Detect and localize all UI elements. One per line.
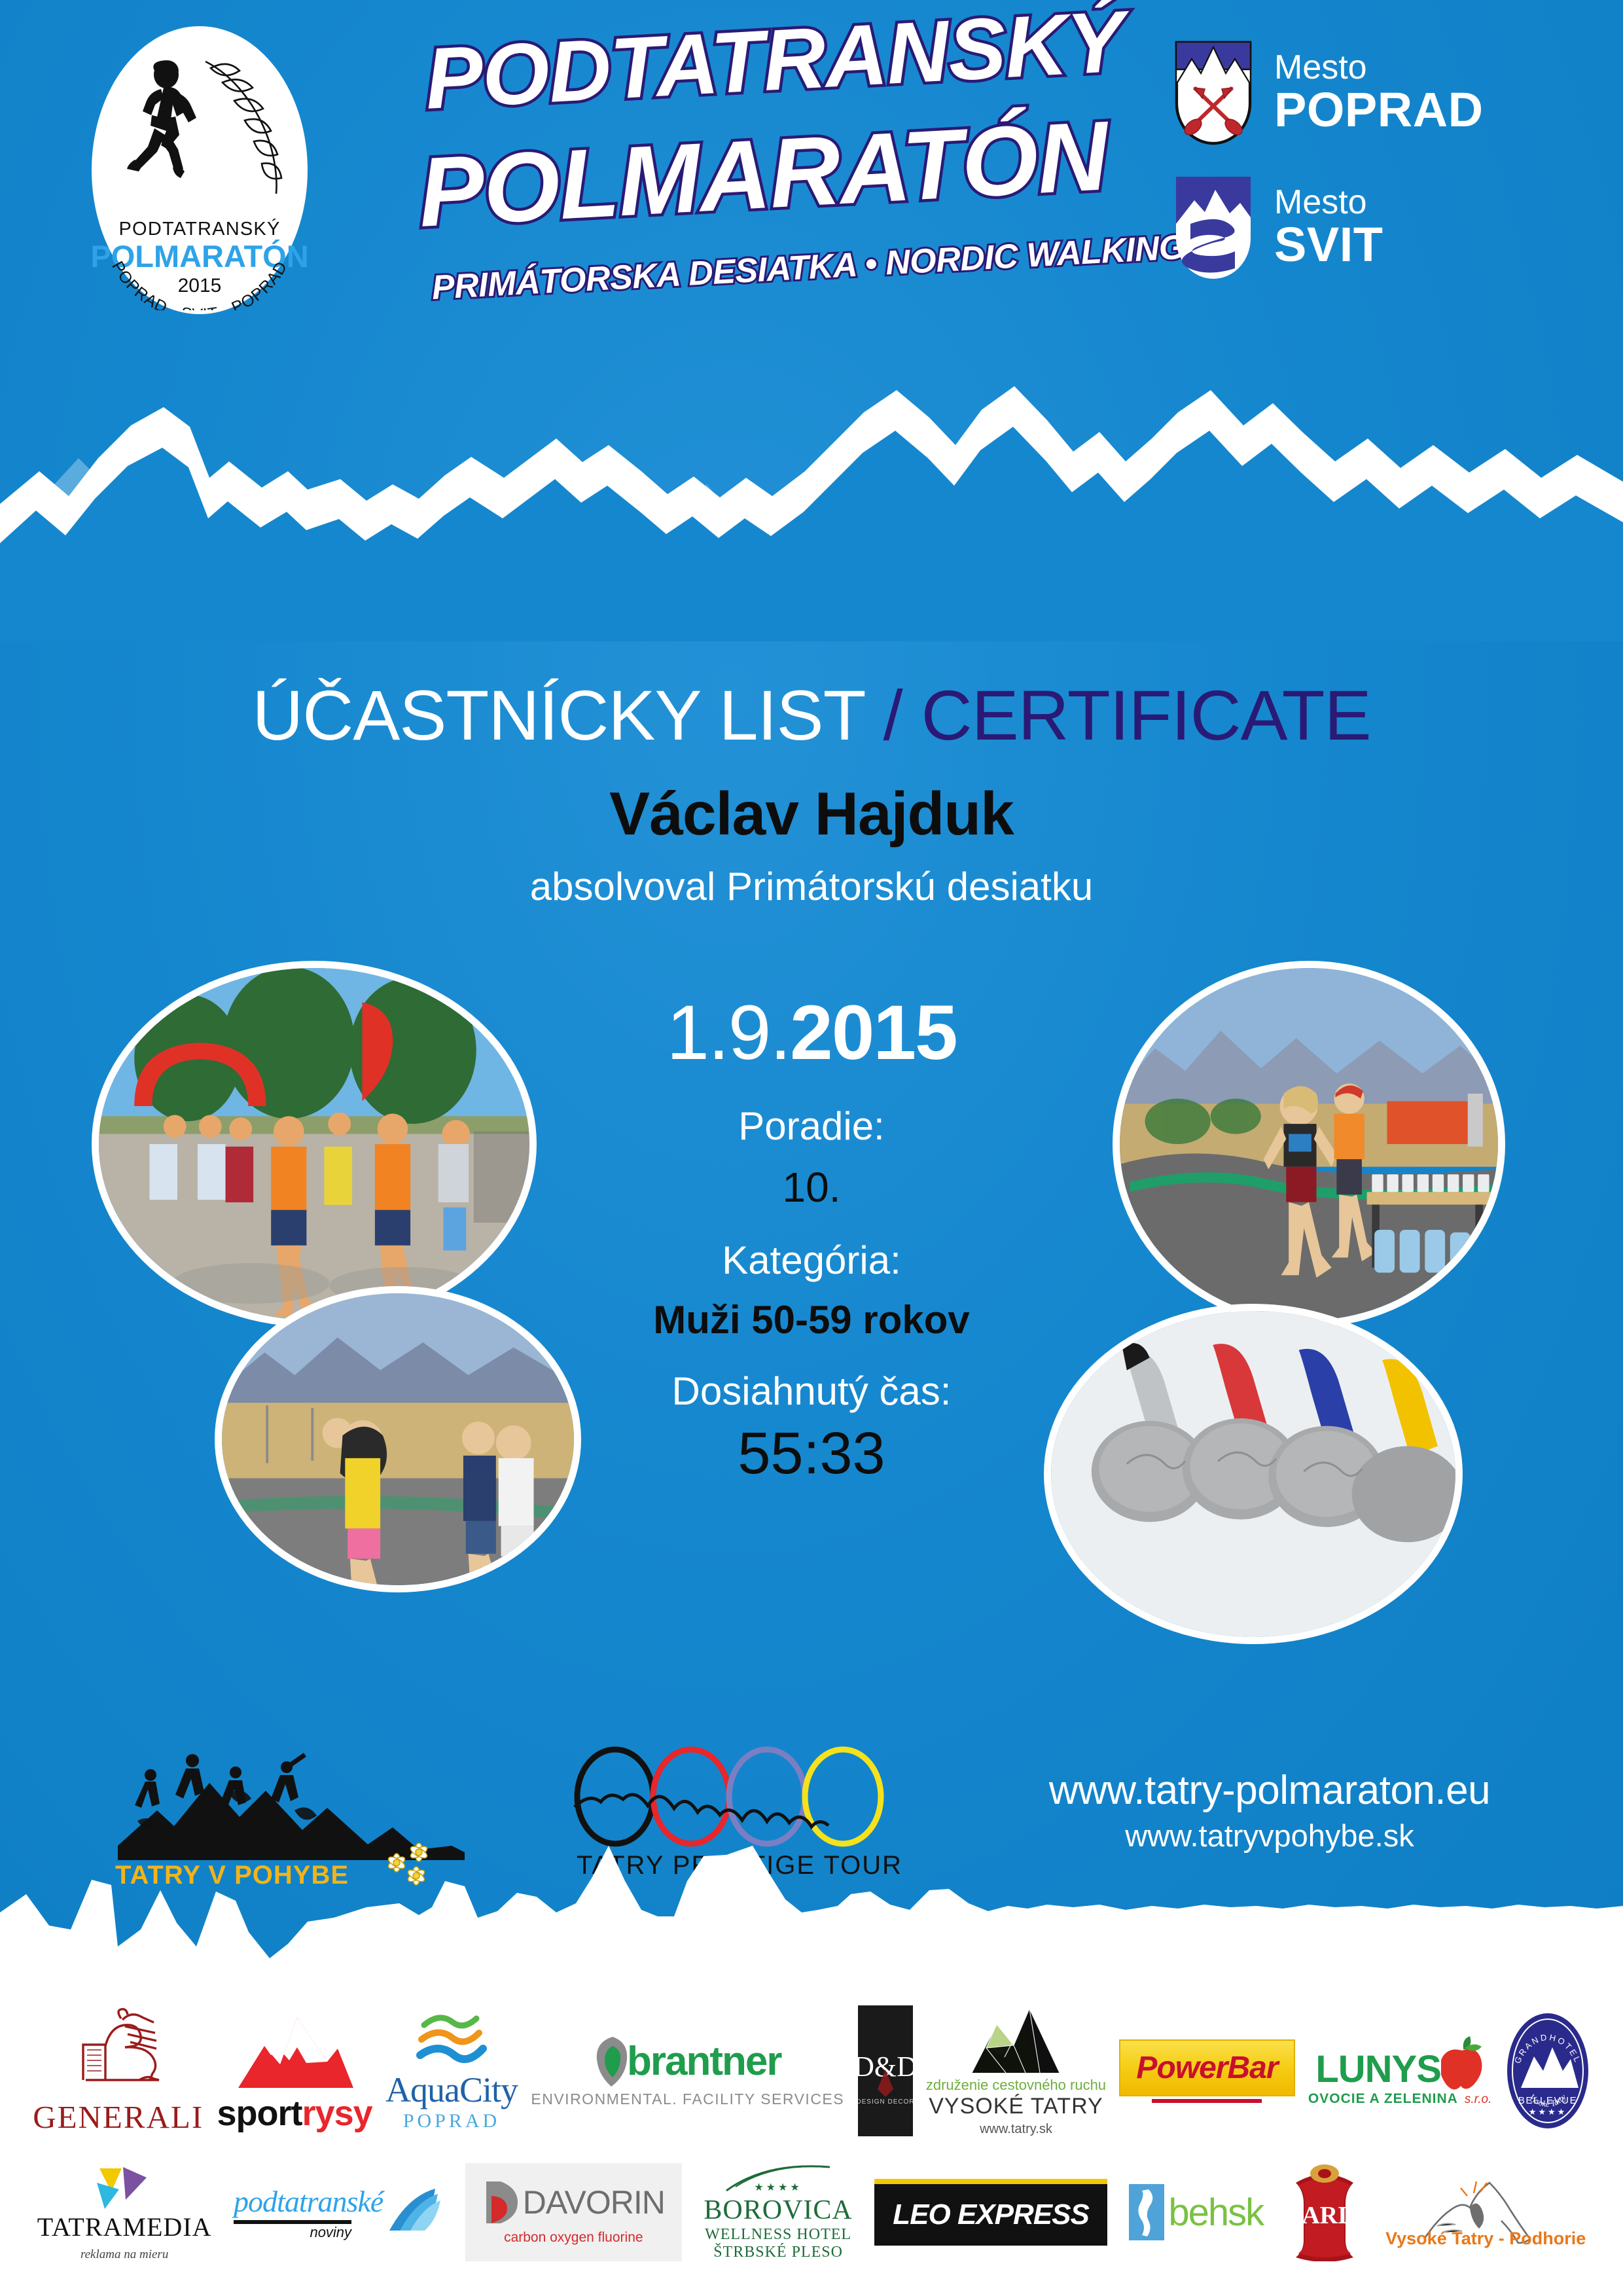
sponsor-tatramedia-label: TATRAMEDIA: [37, 2212, 212, 2242]
time-value: 55:33: [484, 1420, 1139, 1488]
podtatranske-pages-icon: [383, 2185, 443, 2240]
svg-text:ŠARIŠ: ŠARIŠ: [1288, 2201, 1361, 2229]
race-date-day-month: 1.9.: [666, 990, 790, 1076]
city-label-small: Mesto: [1274, 50, 1484, 84]
sponsor-aquacity: AquaCity POPRAD: [385, 2009, 518, 2132]
sponsor-lunys: LUNYS OVOCIE A ZELENINA s.r.o.: [1308, 2035, 1492, 2107]
sponsor-behsk-label: behsk: [1168, 2191, 1263, 2234]
poprad-crest-icon: [1175, 41, 1252, 145]
certificate-heading-en: CERTIFICATE: [921, 675, 1371, 755]
website-primary[interactable]: www.tatry-polmaraton.eu: [975, 1767, 1564, 1814]
powerbar-underline: [1152, 2099, 1262, 2103]
sponsor-vt-label: VYSOKÉ TATRY: [929, 2094, 1103, 2119]
event-title-block: PODTATRANSKÝ POLMARATÓN PRIMÁTORSKA DESI…: [419, 38, 1145, 346]
sponsor-borovica: ★★★★ BOROVICA WELLNESS HOTEL ŠTRBSKÉ PLE…: [704, 2163, 852, 2261]
photo-road-runner: [1113, 961, 1505, 1327]
sponsor-tatramedia: TATRAMEDIA reklama na mieru: [37, 2163, 212, 2262]
sportrysy-mountain-icon: [229, 2008, 360, 2093]
event-badge-logo: PODTATRANSKÝ POLMARATÓN 2015 POPRAD - SV…: [92, 26, 308, 314]
behsk-runner-icon: [1129, 2184, 1164, 2240]
laurel-wreath-icon: [202, 58, 288, 198]
sponsor-vt-sub: združenie cestovného ruchu: [926, 2077, 1106, 2094]
title-line-2: POLMARATÓN: [416, 109, 1110, 239]
sponsor-row-1: GENERALI sportrysy AquaCity POPRAD: [26, 1983, 1597, 2147]
city-partner-logos: Mesto POPRAD Mesto SVIT: [1175, 41, 1541, 310]
sponsor-borovica-sub2: ŠTRBSKÉ PLESO: [713, 2244, 843, 2261]
sponsor-borovica-label: BOROVICA: [704, 2195, 852, 2226]
race-date-year: 2015: [790, 990, 957, 1076]
sponsor-vt-url: www.tatry.sk: [980, 2122, 1052, 2137]
bottom-mountain-edge: [0, 1808, 1623, 1977]
runner-name: Václav Hajduk: [0, 779, 1623, 849]
grandhotel-bellevue-icon: GRANDHOTEL BELLEVUE ★★★★ Vysoké Tatry: [1505, 2012, 1590, 2130]
badge-arc-text: POPRAD - SVIT - POPRAD: [92, 238, 308, 310]
city-label-big: POPRAD: [1274, 84, 1484, 135]
sponsor-powerbar-label: PowerBar: [1136, 2051, 1277, 2085]
generali-lion-icon: [60, 2007, 177, 2098]
sponsor-aquacity-label: AquaCity: [385, 2070, 518, 2110]
sponsor-davorin: DAVORIN carbon oxygen fluorine: [465, 2163, 682, 2261]
sponsor-vysoke-tatry-podhorie: Vysoké Tatry - Podhorie: [1385, 2176, 1586, 2249]
sponsor-grandhotel-bellevue: GRANDHOTEL BELLEVUE ★★★★ Vysoké Tatry: [1505, 2012, 1590, 2130]
sponsor-strip: GENERALI sportrysy AquaCity POPRAD: [0, 1983, 1623, 2296]
sponsor-davorin-label: DAVORIN: [523, 2183, 665, 2221]
svit-crest-icon: [1175, 175, 1252, 280]
title-line-1: PODTATRANSKÝ: [423, 0, 1126, 120]
sponsor-davorin-sub: carbon oxygen fluorine: [504, 2230, 643, 2246]
city-label-big: SVIT: [1274, 219, 1383, 270]
race-date: 1.9.2015: [484, 988, 1139, 1077]
poster-header: PODTATRANSKÝ POLMARATÓN 2015 POPRAD - SV…: [0, 0, 1623, 367]
sponsor-podtatranske-label: podtatranské: [234, 2184, 383, 2219]
dd-design-decor-icon: D&D DESIGN DECOR: [858, 2005, 913, 2136]
sponsor-lunys-sub: OVOCIE A ZELENINA: [1308, 2091, 1458, 2107]
davorin-mark-icon: [482, 2179, 518, 2226]
mountain-range-graphic: [0, 347, 1623, 641]
aquacity-wave-icon: [412, 2009, 491, 2070]
sponsor-behsk: behsk: [1129, 2184, 1263, 2240]
sponsor-sportrysy: sportrysy: [217, 2008, 372, 2134]
city-logo-svit: Mesto SVIT: [1175, 175, 1541, 280]
sponsor-saris: ŠARIŠ: [1285, 2163, 1364, 2261]
photo-medals: [1044, 1304, 1463, 1644]
svg-text:DESIGN DECOR: DESIGN DECOR: [858, 2098, 913, 2106]
svg-text:★★★★: ★★★★: [754, 2182, 802, 2193]
sponsor-brantner-sub: ENVIRONMENTAL. FACILITY SERVICES: [531, 2090, 844, 2108]
achievement-text: absolvoval Primátorskú desiatku: [0, 864, 1623, 909]
result-details: 1.9.2015 Poradie: 10. Kategória: Muži 50…: [484, 988, 1139, 1488]
tatramedia-mark-icon: [85, 2163, 164, 2212]
vysoke-tatry-mountain-icon: [967, 2005, 1065, 2075]
sponsor-borovica-sub: WELLNESS HOTEL: [705, 2226, 851, 2244]
badge-line1: PODTATRANSKÝ: [119, 219, 281, 240]
sponsor-leo-express: LEO EXPRESS: [874, 2179, 1107, 2246]
category-value: Muži 50-59 rokov: [484, 1297, 1139, 1342]
sponsor-vt-podhorie-label: Vysoké Tatry - Podhorie: [1385, 2229, 1586, 2249]
sponsor-vysoke-tatry: združenie cestovného ruchu VYSOKÉ TATRY …: [926, 2005, 1106, 2137]
time-label: Dosiahnutý čas:: [484, 1369, 1139, 1414]
category-label: Kategória:: [484, 1238, 1139, 1283]
sponsor-lunys-sro: s.r.o.: [1465, 2092, 1492, 2107]
sponsor-brantner: brantner ENVIRONMENTAL. FACILITY SERVICE…: [531, 2034, 844, 2108]
certificate-heading-sk: ÚČASTNÍCKY LIST: [252, 675, 864, 755]
photo-race-start: [92, 961, 537, 1327]
sponsor-podtatranske-noviny: podtatranské noviny: [234, 2184, 443, 2241]
running-figure-icon: [126, 60, 211, 191]
sponsor-powerbar: PowerBar: [1119, 2039, 1294, 2103]
city-label-small: Mesto: [1274, 185, 1383, 219]
sponsor-tatramedia-sub: reklama na mieru: [80, 2248, 168, 2262]
saris-crest-icon: ŠARIŠ: [1285, 2163, 1364, 2261]
sponsor-lunys-label: LUNYS: [1315, 2047, 1441, 2091]
sponsor-generali-label: GENERALI: [33, 2098, 204, 2136]
rank-label: Poradie:: [484, 1103, 1139, 1149]
certificate-heading: ÚČASTNÍCKY LIST / CERTIFICATE: [0, 674, 1623, 756]
sponsor-podtatranske-sub: noviny: [234, 2224, 351, 2241]
sponsor-aquacity-sub: POPRAD: [403, 2110, 500, 2132]
sponsor-generali: GENERALI: [33, 2007, 204, 2136]
certificate-heading-separator: /: [865, 675, 921, 755]
sponsor-sportrysy-label: sportrysy: [217, 2093, 372, 2134]
poster-blue-panel: PODTATRANSKÝ POLMARATÓN 2015 POPRAD - SV…: [0, 0, 1623, 1977]
sponsor-row-2: TATRAMEDIA reklama na mieru podtatranské…: [26, 2147, 1597, 2278]
sponsor-brantner-label: brantner: [627, 2038, 781, 2085]
borovica-branch-icon: ★★★★: [722, 2163, 834, 2195]
city-logo-poprad: Mesto POPRAD: [1175, 41, 1541, 145]
sponsor-dd: D&D DESIGN DECOR: [858, 2005, 913, 2136]
svg-text:POPRAD - SVIT - POPRAD: POPRAD - SVIT - POPRAD: [108, 258, 291, 310]
sponsor-leo-express-label: LEO EXPRESS: [893, 2198, 1089, 2231]
lunys-apple-icon: [1441, 2035, 1484, 2091]
photo-field-runners: [215, 1286, 581, 1592]
rank-value: 10.: [484, 1163, 1139, 1211]
